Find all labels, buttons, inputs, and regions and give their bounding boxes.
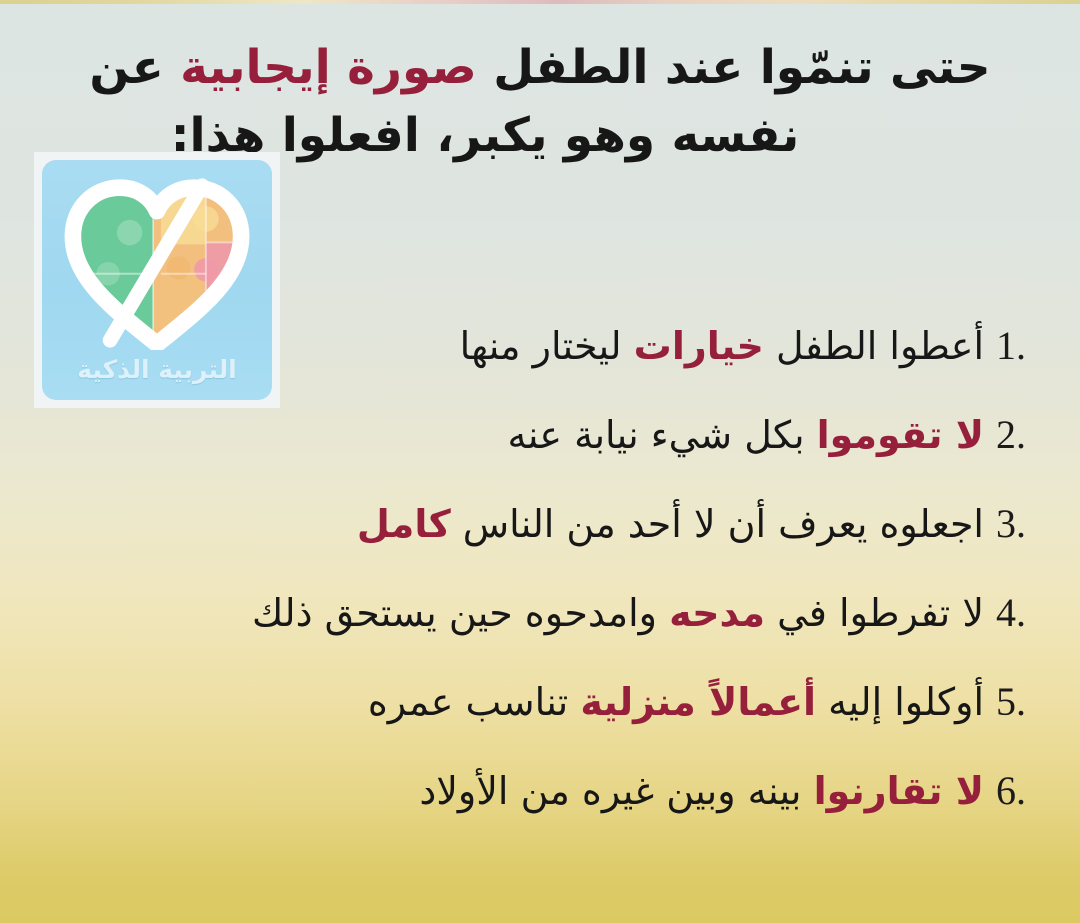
list-item-text-before: أعطوا الطفل xyxy=(764,324,984,368)
list-item-text: أوكلوا إليه أعمالاً منزلية تناسب عمره xyxy=(28,680,984,726)
list-item: 5. أوكلوا إليه أعمالاً منزلية تناسب عمره xyxy=(28,678,1058,767)
list-item: 3. اجعلوه يعرف أن لا أحد من الناس كامل xyxy=(28,500,1058,589)
list-item-number: 4. xyxy=(984,589,1058,636)
list-item-text-highlight: خيارات xyxy=(634,324,764,368)
list-item-number: 6. xyxy=(984,767,1058,814)
list-item-number: 2. xyxy=(984,411,1058,458)
list-item-text-after: ليختار منها xyxy=(460,324,634,368)
list-item-text-after: تناسب عمره xyxy=(368,680,580,724)
list-item-text: لا تقارنوا بينه وبين غيره من الأولاد xyxy=(28,769,984,815)
list-item-number: 5. xyxy=(984,678,1058,725)
list-item-text-highlight: مدحه xyxy=(669,591,765,635)
top-color-strip xyxy=(0,0,1080,4)
list-item-text-highlight: كامل xyxy=(357,502,451,546)
list-item-text-before: أوكلوا إليه xyxy=(816,680,984,724)
list-item: 2. لا تقوموا بكل شيء نيابة عنه xyxy=(28,411,1058,500)
list-item-number: 3. xyxy=(984,500,1058,547)
title-line-1: حتى تنمّوا عند الطفل صورة إيجابية عن xyxy=(40,34,1040,102)
list-item-text: أعطوا الطفل خيارات ليختار منها xyxy=(28,324,984,370)
list-item-text-after: بينه وبين غيره من الأولاد xyxy=(419,769,813,813)
list-item-text-after: بكل شيء نيابة عنه xyxy=(508,413,817,457)
tips-list: 1. أعطوا الطفل خيارات ليختار منها 2. لا … xyxy=(28,322,1058,856)
title-line-1-before: حتى تنمّوا عند الطفل xyxy=(477,40,991,95)
list-item-text-highlight: لا تقوموا xyxy=(817,413,984,457)
list-item-number: 1. xyxy=(984,322,1058,369)
list-item-text-before: اجعلوه يعرف أن لا أحد من الناس xyxy=(451,502,984,546)
list-item-text-highlight: لا تقارنوا xyxy=(814,769,984,813)
list-item-text: اجعلوه يعرف أن لا أحد من الناس كامل xyxy=(28,502,984,548)
list-item-text-after: وامدحوه حين يستحق ذلك xyxy=(252,591,669,635)
list-item-text: لا تقوموا بكل شيء نيابة عنه xyxy=(28,413,984,459)
title-line-1-after: عن xyxy=(89,40,180,95)
list-item-text-before: لا تفرطوا في xyxy=(765,591,984,635)
infographic-poster: حتى تنمّوا عند الطفل صورة إيجابية عن نفس… xyxy=(0,0,1080,923)
list-item: 4. لا تفرطوا في مدحه وامدحوه حين يستحق ذ… xyxy=(28,589,1058,678)
title-line-1-highlight: صورة إيجابية xyxy=(180,40,477,95)
list-item-text-highlight: أعمالاً منزلية xyxy=(580,680,816,724)
list-item: 1. أعطوا الطفل خيارات ليختار منها xyxy=(28,322,1058,411)
list-item-text: لا تفرطوا في مدحه وامدحوه حين يستحق ذلك xyxy=(28,591,984,637)
page-title: حتى تنمّوا عند الطفل صورة إيجابية عن نفس… xyxy=(40,34,1040,170)
list-item: 6. لا تقارنوا بينه وبين غيره من الأولاد xyxy=(28,767,1058,856)
